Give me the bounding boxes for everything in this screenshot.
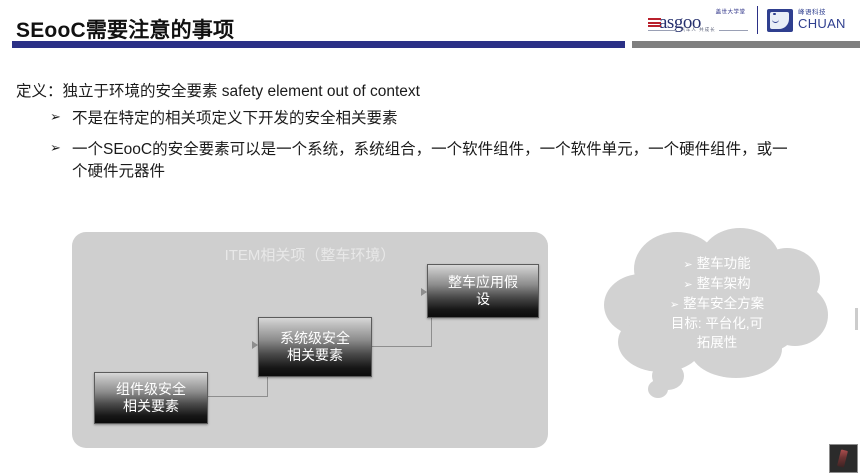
title-rule-primary bbox=[12, 41, 625, 48]
cloud-item-3: ➢整车安全方案 bbox=[618, 294, 816, 314]
diagram-panel: ITEM相关项（整车环境） 组件级安全 相关要素 系统级安全 相关要素 整车应用… bbox=[72, 232, 548, 448]
cloud-item-1: ➢整车功能 bbox=[618, 254, 816, 274]
cloud-goal-line-2: 拓展性 bbox=[618, 333, 816, 353]
face-profile-icon bbox=[767, 9, 793, 32]
gasgoo-sub-text: 汽车人 共成长 bbox=[680, 27, 715, 33]
logo-bar: 盖世大学堂 asgoo 汽车人 共成长 峰语科技 CHUAN bbox=[648, 2, 860, 38]
bullet-marker-icon: ➢ bbox=[670, 299, 679, 311]
right-edge-mark bbox=[855, 308, 858, 330]
cloud-item-1-label: 整车功能 bbox=[697, 256, 751, 271]
page-title: SEooC需要注意的事项 bbox=[16, 14, 234, 44]
process-box-component-label: 组件级安全 相关要素 bbox=[112, 381, 190, 415]
bullet-marker-icon: ➢ bbox=[50, 139, 72, 157]
bullet-marker-icon: ➢ bbox=[683, 259, 692, 271]
panel-heading: ITEM相关项（整车环境） bbox=[72, 244, 548, 265]
cloud-item-3-label: 整车安全方案 bbox=[683, 296, 764, 311]
cloud-text-group: ➢整车功能 ➢整车架构 ➢整车安全方案 目标: 平台化,可 拓展性 bbox=[618, 254, 816, 353]
title-rule-secondary bbox=[632, 41, 860, 48]
gasgoo-cn-text: 盖世大学堂 bbox=[716, 7, 746, 15]
thought-cloud-callout: ➢整车功能 ➢整车架构 ➢整车安全方案 目标: 平台化,可 拓展性 bbox=[604, 228, 830, 418]
cloud-item-2: ➢整车架构 bbox=[618, 274, 816, 294]
cloud-item-2-label: 整车架构 bbox=[697, 276, 751, 291]
chuan-en-text: CHUAN bbox=[798, 17, 846, 31]
bullet-item-1: ➢ 不是在特定的相关项定义下开发的安全相关要素 bbox=[50, 108, 398, 130]
process-box-system-label: 系统级安全 相关要素 bbox=[276, 330, 354, 364]
bullet-marker-icon: ➢ bbox=[683, 279, 692, 291]
cloud-goal-line-1: 目标: 平台化,可 bbox=[618, 314, 816, 334]
process-box-vehicle-label: 整车应用假 设 bbox=[444, 274, 522, 308]
logo-divider bbox=[757, 6, 758, 34]
cloud-tail-small bbox=[648, 380, 668, 398]
corner-badge-glyph-icon bbox=[837, 449, 848, 467]
process-box-system[interactable]: 系统级安全 相关要素 bbox=[258, 317, 372, 377]
corner-thumbnail-badge[interactable] bbox=[829, 444, 858, 473]
gasgoo-subline: 汽车人 共成长 bbox=[648, 27, 748, 33]
process-box-vehicle[interactable]: 整车应用假 设 bbox=[427, 264, 539, 318]
bullet-text-1: 不是在特定的相关项定义下开发的安全相关要素 bbox=[72, 108, 398, 130]
bullet-item-2: ➢ 一个SEooC的安全要素可以是一个系统，系统组合，一个软件组件，一个软件单元… bbox=[50, 139, 792, 183]
gasgoo-logo: 盖世大学堂 asgoo 汽车人 共成长 bbox=[648, 8, 748, 32]
bullet-marker-icon: ➢ bbox=[50, 108, 72, 126]
definition-line: 定义：独立于环境的安全要素 safety element out of cont… bbox=[16, 79, 420, 101]
bullet-text-2: 一个SEooC的安全要素可以是一个系统，系统组合，一个软件组件，一个软件单元，一… bbox=[72, 139, 792, 183]
process-box-component[interactable]: 组件级安全 相关要素 bbox=[94, 372, 208, 424]
chuan-logo: 峰语科技 CHUAN bbox=[767, 9, 846, 32]
